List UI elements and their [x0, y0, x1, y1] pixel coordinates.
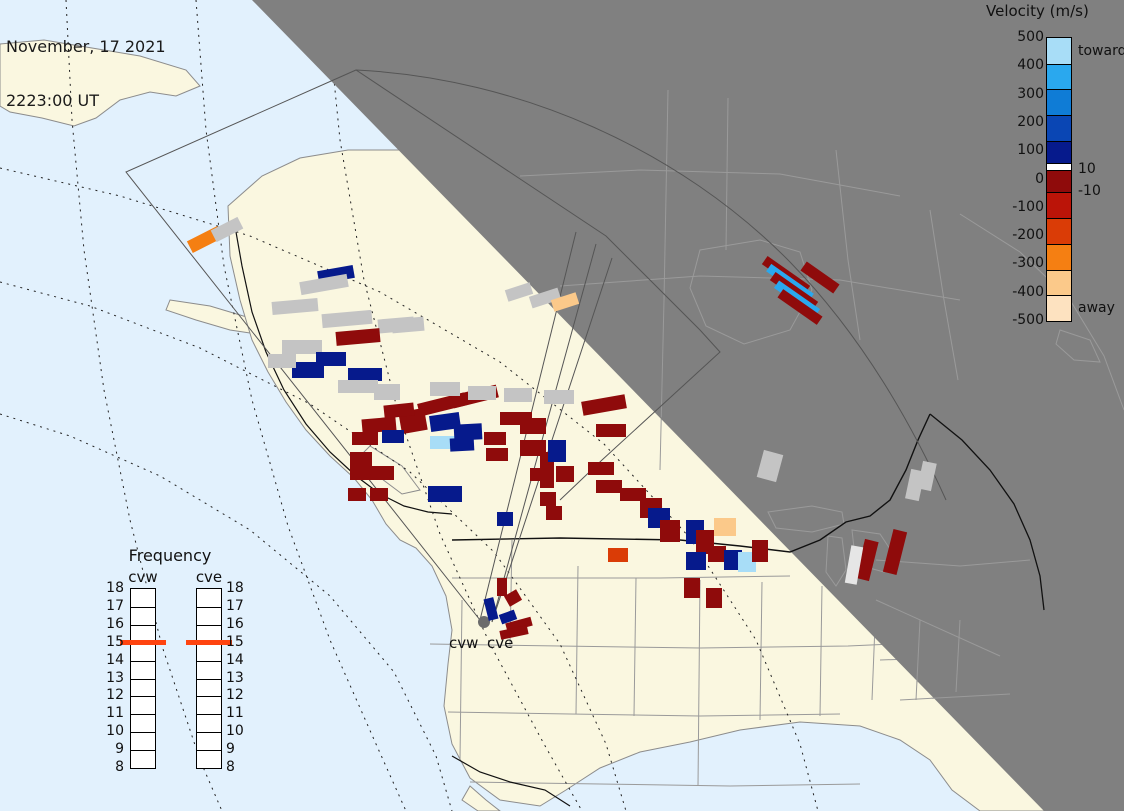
colorbar-tick-label: 100	[998, 142, 1044, 158]
colorbar-tick-label: 500	[998, 29, 1044, 45]
frequency-tick-label: 18	[102, 580, 124, 596]
colorbar-tick-label: 200	[998, 114, 1044, 130]
velocity-cell	[382, 430, 404, 443]
velocity-cell	[520, 418, 546, 434]
frequency-tick-label: 17	[226, 598, 248, 614]
colorbar-tick-label: 400	[998, 57, 1044, 73]
frequency-tick-label: 13	[226, 670, 248, 686]
frequency-legend-title: Frequency	[96, 546, 244, 565]
velocity-legend: Velocity (m/s) 5004003002001000-100-200-…	[986, 2, 1124, 332]
frequency-bar-gridline	[197, 714, 221, 715]
frequency-tick-label: 14	[226, 652, 248, 668]
frequency-tick-label: 18	[226, 580, 248, 596]
colorbar-separator	[1047, 218, 1071, 219]
colorbar-segment	[1047, 244, 1071, 270]
frequency-bar-gridline	[131, 714, 155, 715]
frequency-bar-gridline	[131, 696, 155, 697]
colorbar-separator	[1047, 64, 1071, 65]
velocity-cell	[366, 466, 394, 480]
velocity-cell	[497, 512, 513, 526]
velocity-cell	[268, 354, 296, 368]
frequency-bar-gridline	[131, 661, 155, 662]
frequency-tick-label: 16	[102, 616, 124, 632]
frequency-tick-label: 15	[102, 634, 124, 650]
colorbar-separator	[1047, 192, 1071, 193]
colorbar-separator	[1047, 295, 1071, 296]
velocity-cell	[370, 488, 388, 501]
colorbar-segment	[1047, 64, 1071, 90]
colorbar-segment	[1047, 115, 1071, 141]
velocity-cell	[596, 424, 626, 437]
colorbar-segment	[1047, 89, 1071, 115]
velocity-cell	[428, 486, 462, 502]
velocity-cell	[374, 384, 400, 400]
velocity-cell	[596, 480, 622, 493]
frequency-column-label: cve	[187, 568, 231, 586]
frequency-bar-gridline	[131, 679, 155, 680]
colorbar-segment	[1047, 192, 1071, 218]
frequency-column-label: cvw	[121, 568, 165, 586]
timestamp-date: November, 17 2021	[6, 38, 166, 56]
velocity-cell	[708, 546, 726, 562]
colorbar-separator	[1047, 89, 1071, 90]
frequency-tick-label: 12	[226, 687, 248, 703]
velocity-cell	[338, 380, 378, 393]
radar-fan-plot: November, 17 2021 2223:00 UT Velocity (m…	[0, 0, 1124, 811]
colorbar-tick-label: -400	[998, 284, 1044, 300]
frequency-bar-cve	[196, 588, 222, 769]
colorbar-positive-threshold-label: 10	[1078, 161, 1096, 177]
velocity-cell	[468, 386, 496, 400]
frequency-bar-gridline	[131, 625, 155, 626]
colorbar-tick-label: 0	[998, 171, 1044, 187]
colorbar-segment	[1047, 218, 1071, 244]
timestamp: November, 17 2021 2223:00 UT	[6, 2, 166, 146]
velocity-cell	[352, 432, 378, 445]
velocity-colorbar	[1046, 37, 1072, 322]
velocity-cell	[686, 552, 706, 570]
frequency-bar-gridline	[197, 661, 221, 662]
velocity-cell	[752, 540, 768, 562]
frequency-bar-gridline	[131, 607, 155, 608]
colorbar-tick-label: -500	[998, 312, 1044, 328]
frequency-tick-label: 14	[102, 652, 124, 668]
velocity-cell	[430, 382, 460, 396]
frequency-tick-label: 8	[102, 759, 124, 775]
site-label-cve: cve	[487, 634, 513, 652]
frequency-bar-cvw	[130, 588, 156, 769]
colorbar-toward-label: toward	[1078, 43, 1124, 59]
frequency-legend: Frequency cvw18171615141312111098cve1817…	[96, 546, 244, 784]
colorbar-segment	[1047, 38, 1071, 64]
frequency-tick-label: 16	[226, 616, 248, 632]
colorbar-tick-label: -200	[998, 227, 1044, 243]
velocity-cell	[540, 492, 556, 506]
frequency-tick-label: 13	[102, 670, 124, 686]
velocity-cell	[391, 317, 424, 334]
frequency-tick-label: 8	[226, 759, 248, 775]
velocity-cell	[348, 368, 382, 381]
frequency-tick-label: 9	[102, 741, 124, 757]
colorbar-separator	[1047, 141, 1071, 142]
velocity-cell	[548, 440, 566, 462]
frequency-tick-label: 17	[102, 598, 124, 614]
frequency-bar-gridline	[197, 625, 221, 626]
site-label-cvw: cvw	[449, 634, 478, 652]
velocity-cell	[497, 578, 507, 596]
velocity-cell	[588, 462, 614, 475]
colorbar-tick-label: 300	[998, 86, 1044, 102]
velocity-cell	[546, 506, 562, 520]
velocity-cell	[486, 448, 508, 461]
frequency-tick-label: 15	[226, 634, 248, 650]
colorbar-separator	[1047, 115, 1071, 116]
frequency-tick-label: 11	[226, 705, 248, 721]
colorbar-tick-label: -300	[998, 255, 1044, 271]
colorbar-tick-label: -100	[998, 199, 1044, 215]
velocity-cell	[504, 388, 532, 402]
velocity-cell	[608, 548, 628, 562]
frequency-bar-gridline	[197, 679, 221, 680]
velocity-cell	[660, 520, 680, 542]
frequency-bar-gridline	[197, 696, 221, 697]
velocity-cell	[348, 488, 366, 501]
frequency-bar-gridline	[131, 732, 155, 733]
timestamp-time: 2223:00 UT	[6, 92, 166, 110]
frequency-tick-label: 11	[102, 705, 124, 721]
frequency-bar-gridline	[197, 750, 221, 751]
frequency-bar-gridline	[197, 607, 221, 608]
colorbar-negative-threshold-label: -10	[1078, 183, 1101, 199]
velocity-cell	[292, 362, 324, 378]
frequency-tick-label: 12	[102, 687, 124, 703]
velocity-cell	[282, 340, 322, 354]
frequency-tick-label: 10	[226, 723, 248, 739]
colorbar-zero-band	[1047, 163, 1071, 171]
velocity-cell	[454, 423, 483, 440]
velocity-cell	[544, 390, 574, 404]
frequency-bar-gridline	[197, 732, 221, 733]
frequency-marker-cvw	[120, 640, 166, 645]
frequency-tick-label: 10	[102, 723, 124, 739]
colorbar-segment	[1047, 295, 1071, 321]
velocity-cell	[706, 588, 722, 608]
frequency-bar-gridline	[131, 750, 155, 751]
velocity-cell	[684, 578, 700, 598]
colorbar-segment	[1047, 270, 1071, 296]
colorbar-separator	[1047, 270, 1071, 271]
velocity-cell	[484, 432, 506, 445]
frequency-tick-label: 9	[226, 741, 248, 757]
velocity-cell	[556, 466, 574, 482]
velocity-legend-title: Velocity (m/s)	[986, 2, 1124, 20]
colorbar-away-label: away	[1078, 300, 1115, 316]
velocity-cell	[714, 518, 736, 536]
colorbar-separator	[1047, 244, 1071, 245]
